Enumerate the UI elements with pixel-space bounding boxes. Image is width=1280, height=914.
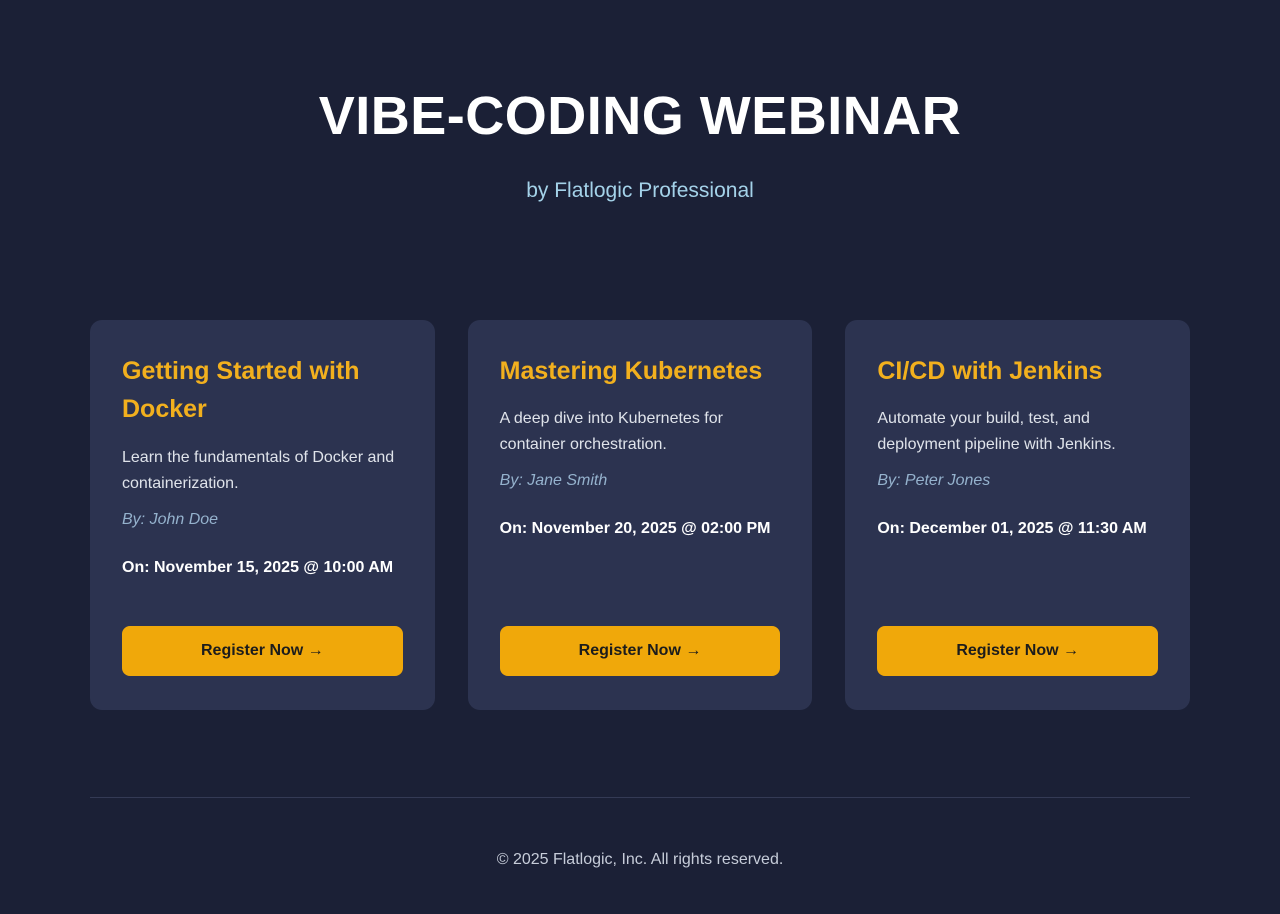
webinar-title: Mastering Kubernetes: [500, 352, 781, 391]
webinar-card-grid: Getting Started with Docker Learn the fu…: [90, 320, 1190, 710]
webinar-author: By: John Doe: [122, 507, 403, 533]
webinar-title: CI/CD with Jenkins: [877, 352, 1158, 391]
webinar-landing-page: VIBE-CODING WEBINAR by Flatlogic Profess…: [0, 0, 1280, 914]
webinar-author: By: Peter Jones: [877, 468, 1158, 494]
webinar-author: By: Jane Smith: [500, 468, 781, 494]
webinar-card: CI/CD with Jenkins Automate your build, …: [845, 320, 1190, 710]
webinar-date: On: December 01, 2025 @ 11:30 AM: [877, 516, 1158, 542]
webinar-description: Learn the fundamentals of Docker and con…: [122, 445, 403, 497]
webinar-date: On: November 15, 2025 @ 10:00 AM: [122, 555, 403, 581]
register-now-button[interactable]: Register Now →: [877, 626, 1158, 676]
register-now-button[interactable]: Register Now →: [122, 626, 403, 676]
register-now-button[interactable]: Register Now →: [500, 626, 781, 676]
webinar-description: A deep dive into Kubernetes for containe…: [500, 406, 781, 458]
page-subtitle: by Flatlogic Professional: [0, 179, 1280, 203]
page-header: VIBE-CODING WEBINAR by Flatlogic Profess…: [0, 0, 1280, 203]
copyright-text: © 2025 Flatlogic, Inc. All rights reserv…: [90, 798, 1190, 869]
footer-spacer: [0, 869, 1280, 914]
page-footer: © 2025 Flatlogic, Inc. All rights reserv…: [0, 797, 1280, 869]
webinar-title: Getting Started with Docker: [122, 352, 403, 430]
webinar-description: Automate your build, test, and deploymen…: [877, 406, 1158, 458]
webinar-date: On: November 20, 2025 @ 02:00 PM: [500, 516, 781, 542]
page-title: VIBE-CODING WEBINAR: [0, 88, 1280, 145]
webinar-card: Getting Started with Docker Learn the fu…: [90, 320, 435, 710]
webinar-list-section: Getting Started with Docker Learn the fu…: [0, 320, 1280, 710]
webinar-card: Mastering Kubernetes A deep dive into Ku…: [468, 320, 813, 710]
